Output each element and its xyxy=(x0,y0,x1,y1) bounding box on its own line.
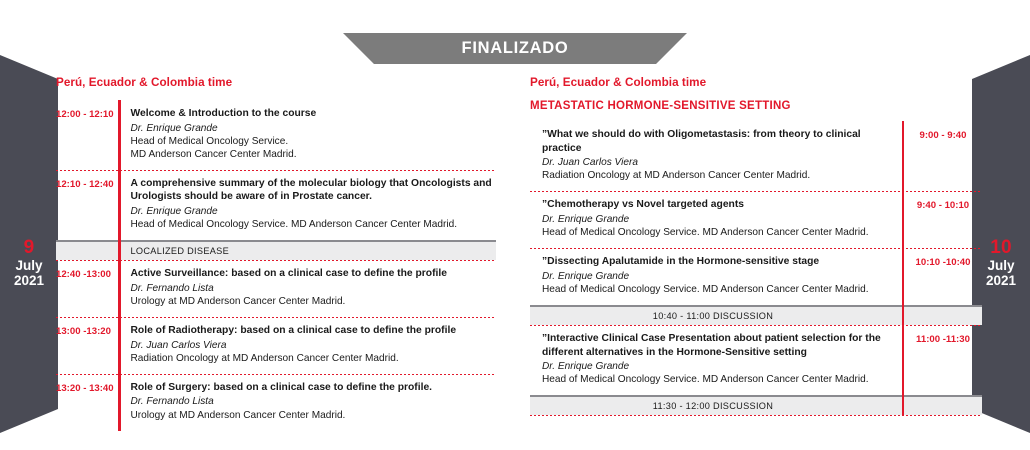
discussion-band-label: 11:30 - 12:00 DISCUSSION xyxy=(530,401,982,411)
agenda-row-speaker: Dr. Juan Carlos Viera xyxy=(542,156,892,169)
agenda-row-title: Role of Surgery: based on a clinical cas… xyxy=(131,381,497,395)
agenda-row: 13:20 - 13:40Role of Surgery: based on a… xyxy=(56,374,496,431)
agenda-row-affiliation: Radiation Oncology at MD Anderson Cancer… xyxy=(542,169,892,182)
agenda-row-affiliation: Urology at MD Anderson Cancer Center Mad… xyxy=(131,295,497,308)
agenda-row-body: ”Dissecting Apalutamide in the Hormone-s… xyxy=(530,248,902,305)
agenda-row-time: 12:00 - 12:10 xyxy=(56,100,118,170)
agenda-row: 12:10 - 12:40A comprehensive summary of … xyxy=(56,170,496,240)
agenda-row-body: Active Surveillance: based on a clinical… xyxy=(121,260,497,317)
agenda-row-body: A comprehensive summary of the molecular… xyxy=(121,170,497,240)
agenda-row: ”Dissecting Apalutamide in the Hormone-s… xyxy=(530,248,982,305)
agenda-row-body: ”What we should do with Oligometastasis:… xyxy=(530,121,902,191)
discussion-band: 10:40 - 11:00 DISCUSSION xyxy=(530,305,982,325)
date-panel-left: 9 July 2021 xyxy=(0,55,58,433)
agenda-row-affiliation: Head of Medical Oncology Service. MD And… xyxy=(542,373,892,386)
agenda-row-title: ”Chemotherapy vs Novel targeted agents xyxy=(542,198,892,212)
agenda-row-speaker: Dr. Fernando Lista xyxy=(131,395,497,408)
agenda-row-speaker: Dr. Enrique Grande xyxy=(542,213,892,226)
agenda-row-time: 13:20 - 13:40 xyxy=(56,374,118,431)
agenda-row-title: Welcome & Introduction to the course xyxy=(131,107,497,121)
agenda-row-affiliation: Urology at MD Anderson Cancer Center Mad… xyxy=(131,409,497,422)
timezone-heading-right: Perú, Ecuador & Colombia time xyxy=(530,76,982,89)
agenda-row-time: 12:10 - 12:40 xyxy=(56,170,118,240)
agenda-row-time: 12:40 -13:00 xyxy=(56,260,118,317)
agenda-row-title: Active Surveillance: based on a clinical… xyxy=(131,267,497,281)
agenda-row-time: 11:00 -11:30 xyxy=(904,325,982,395)
agenda-poster: 9 July 2021 10 July 2021 FINALIZADO Perú… xyxy=(0,0,1030,450)
date-left-month: July xyxy=(0,258,58,273)
agenda-row-body: Role of Surgery: based on a clinical cas… xyxy=(121,374,497,431)
agenda-row-speaker: Dr. Enrique Grande xyxy=(131,122,497,135)
timezone-heading-left: Perú, Ecuador & Colombia time xyxy=(56,76,496,89)
agenda-rows-day2: ”What we should do with Oligometastasis:… xyxy=(530,121,982,415)
agenda-row-affiliation: Radiation Oncology at MD Anderson Cancer… xyxy=(131,352,497,365)
agenda-rows-day1: 12:00 - 12:10Welcome & Introduction to t… xyxy=(56,100,496,431)
agenda-row: 13:00 -13:20Role of Radiotherapy: based … xyxy=(56,317,496,374)
agenda-row: ”What we should do with Oligometastasis:… xyxy=(530,121,982,191)
agenda-row-body: Welcome & Introduction to the courseDr. … xyxy=(121,100,497,170)
agenda-row-affiliation: MD Anderson Cancer Center Madrid. xyxy=(131,148,497,161)
agenda-row-body: ”Chemotherapy vs Novel targeted agentsDr… xyxy=(530,191,902,248)
agenda-row-affiliation: Head of Medical Oncology Service. MD And… xyxy=(542,226,892,239)
agenda-row-speaker: Dr. Fernando Lista xyxy=(131,282,497,295)
agenda-row-speaker: Dr. Enrique Grande xyxy=(542,360,892,373)
agenda-row-time: 9:00 - 9:40 xyxy=(904,121,982,191)
agenda-row-speaker: Dr. Juan Carlos Viera xyxy=(131,339,497,352)
date-left-day: 9 xyxy=(0,237,58,258)
section-heading-metastatic: METASTATIC HORMONE-SENSITIVE SETTING xyxy=(530,100,982,112)
agenda-row-speaker: Dr. Enrique Grande xyxy=(542,270,892,283)
agenda-row-title: A comprehensive summary of the molecular… xyxy=(131,177,497,204)
agenda-row-body: ”Interactive Clinical Case Presentation … xyxy=(530,325,902,395)
agenda-column-day2: Perú, Ecuador & Colombia time METASTATIC… xyxy=(530,76,982,415)
date-left-year: 2021 xyxy=(0,273,58,288)
timeline-rule xyxy=(902,395,905,416)
agenda-row-time: 10:10 -10:40 xyxy=(904,248,982,305)
date-panel-left-inner: 9 July 2021 xyxy=(0,237,58,288)
agenda-row-title: ”Dissecting Apalutamide in the Hormone-s… xyxy=(542,255,892,269)
agenda-row: ”Interactive Clinical Case Presentation … xyxy=(530,325,982,395)
agenda-row-time: 9:40 - 10:10 xyxy=(904,191,982,248)
agenda-column-day1: Perú, Ecuador & Colombia time 12:00 - 12… xyxy=(56,76,496,431)
discussion-band: 11:30 - 12:00 DISCUSSION xyxy=(530,395,982,415)
status-banner: FINALIZADO xyxy=(343,33,687,64)
agenda-row-title: Role of Radiotherapy: based on a clinica… xyxy=(131,324,497,338)
discussion-band-label: 10:40 - 11:00 DISCUSSION xyxy=(530,311,982,321)
timeline-rule xyxy=(902,304,905,325)
agenda-row-time: 13:00 -13:20 xyxy=(56,317,118,374)
agenda-row-title: ”What we should do with Oligometastasis:… xyxy=(542,128,892,155)
agenda-row-affiliation: Head of Medical Oncology Service. MD And… xyxy=(131,218,497,231)
agenda-row: 12:00 - 12:10Welcome & Introduction to t… xyxy=(56,100,496,170)
timeline-rule xyxy=(118,240,121,261)
agenda-row-affiliation: Head of Medical Oncology Service. xyxy=(131,135,497,148)
agenda-row: 12:40 -13:00Active Surveillance: based o… xyxy=(56,260,496,317)
agenda-row-title: ”Interactive Clinical Case Presentation … xyxy=(542,332,892,359)
status-banner-label: FINALIZADO xyxy=(462,39,569,58)
section-band-label: LOCALIZED DISEASE xyxy=(56,246,229,256)
section-band: LOCALIZED DISEASE xyxy=(56,240,496,260)
agenda-row-speaker: Dr. Enrique Grande xyxy=(131,205,497,218)
agenda-row: ”Chemotherapy vs Novel targeted agentsDr… xyxy=(530,191,982,248)
agenda-row-body: Role of Radiotherapy: based on a clinica… xyxy=(121,317,497,374)
agenda-row-affiliation: Head of Medical Oncology Service. MD And… xyxy=(542,283,892,296)
